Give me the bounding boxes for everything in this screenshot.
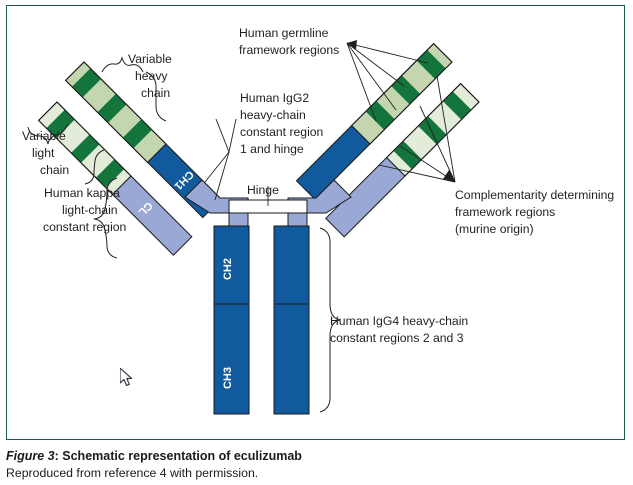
label-cdr: Complementarity determining framework re… [455,188,614,236]
label-human-kappa: Human kappa light-chain constant region [43,186,126,234]
ch2-label: CH2 [222,258,234,280]
svg-text:framework regions: framework regions [239,43,339,57]
leader-germline-4 [347,43,376,121]
svg-text:light-chain: light-chain [62,203,118,217]
figure-caption-title: Figure 3: Schematic representation of ec… [6,449,302,463]
ch2-block-right [274,226,309,304]
svg-text:chain: chain [141,86,170,100]
fc-stem: CH2 CH3 [214,226,309,414]
ch3-block-right [274,304,309,414]
svg-text:constant region: constant region [43,220,126,234]
leader-igg2-fan [216,119,236,152]
caption-title-text: Schematic representation of eculizumab [62,449,302,463]
svg-text:(murine origin): (murine origin) [455,222,534,236]
ch3-label: CH3 [222,367,234,389]
svg-text:framework regions: framework regions [455,205,555,219]
svg-text:chain: chain [40,163,69,177]
svg-text:Human IgG2: Human IgG2 [240,91,309,105]
ch3-block-left [214,304,249,414]
svg-text:Variable: Variable [128,52,172,66]
label-variable-light-chain: Variable light chain [22,129,69,177]
antibody-diagram: CH1 CL [0,0,633,485]
leader-igg2-down [215,152,229,200]
svg-text:Human germline: Human germline [239,26,329,40]
svg-text:constant region: constant region [240,125,323,139]
figure-caption-credit: Reproduced from reference 4 with permiss… [6,466,258,480]
svg-text:heavy-chain: heavy-chain [240,108,306,122]
svg-text:heavy: heavy [135,69,168,83]
leader-igg2-arm [205,152,229,182]
label-human-igg2: Human IgG2 heavy-chain constant region 1… [240,91,323,156]
svg-text:Complementarity determining: Complementarity determining [455,188,614,202]
svg-text:light: light [32,146,55,160]
label-hinge: Hinge [247,183,279,197]
svg-text:constant regions 2 and 3: constant regions 2 and 3 [330,331,464,345]
label-human-igg4: Human IgG4 heavy-chain constant regions … [330,314,468,345]
label-human-germline: Human germline framework regions [239,26,339,57]
svg-text:1 and hinge: 1 and hinge [240,142,304,156]
label-variable-heavy-chain: Variable heavy chain [128,52,172,100]
svg-text:Human IgG4 heavy-chain: Human IgG4 heavy-chain [330,314,468,328]
svg-text:Human kappa: Human kappa [44,186,120,200]
figure-page: CH1 CL [0,0,633,485]
svg-text:Variable: Variable [22,129,66,143]
figure-number: Figure 3 [6,449,55,463]
